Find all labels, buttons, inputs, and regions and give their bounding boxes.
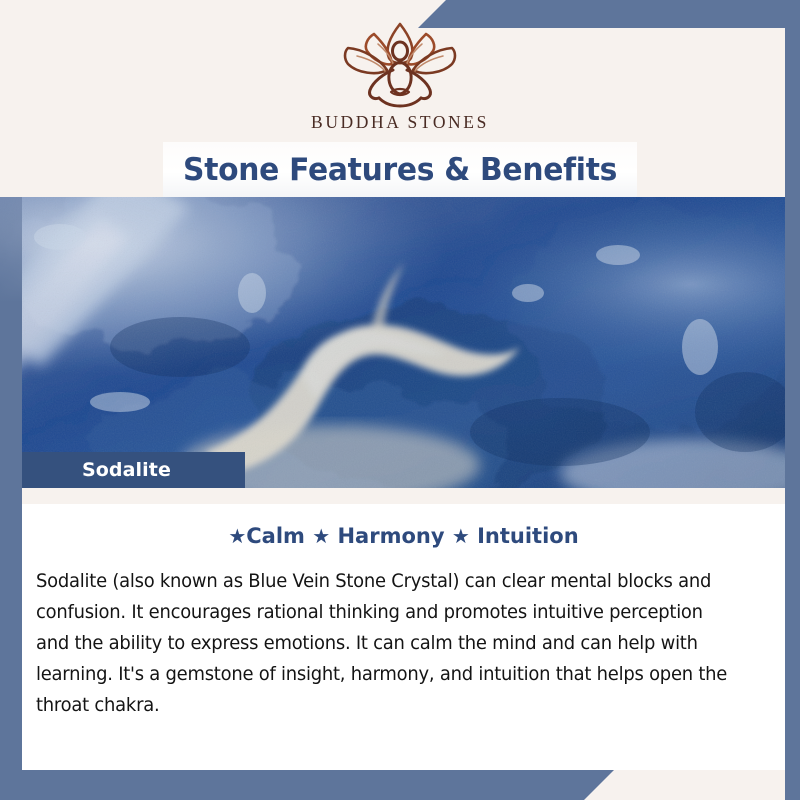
stone-info-poster: BUDDHA STONES Stone Features & Benefits [0, 0, 800, 800]
content-top-strip [22, 488, 785, 504]
star-icon: ★ [452, 524, 470, 548]
stone-image [0, 197, 785, 488]
brand-name: BUDDHA STONES [311, 112, 489, 133]
top-right-accent-bar [418, 0, 800, 28]
keyword-harmony: Harmony [337, 524, 444, 548]
star-icon: ★ [312, 524, 330, 548]
stone-name-label: Sodalite [82, 459, 171, 481]
stone-name-badge: Sodalite [20, 452, 245, 488]
poster-body: ★Calm ★ Harmony ★ Intuition Sodalite (al… [22, 488, 785, 770]
keyword-calm: Calm [246, 524, 305, 548]
brand-logo: BUDDHA STONES [0, 18, 800, 133]
star-icon: ★ [228, 524, 246, 548]
right-accent-bar [785, 12, 800, 800]
poster-header: BUDDHA STONES Stone Features & Benefits [0, 0, 800, 197]
keyword-list: ★Calm ★ Harmony ★ Intuition [22, 524, 785, 548]
title-banner: Stone Features & Benefits [163, 142, 637, 197]
keyword-intuition: Intuition [477, 524, 579, 548]
stone-description: Sodalite (also known as Blue Vein Stone … [36, 566, 738, 721]
left-accent-bar [0, 197, 22, 782]
bottom-left-accent-bar [0, 770, 614, 800]
page-title: Stone Features & Benefits [183, 152, 617, 188]
lotus-meditation-figure-icon [315, 18, 485, 110]
